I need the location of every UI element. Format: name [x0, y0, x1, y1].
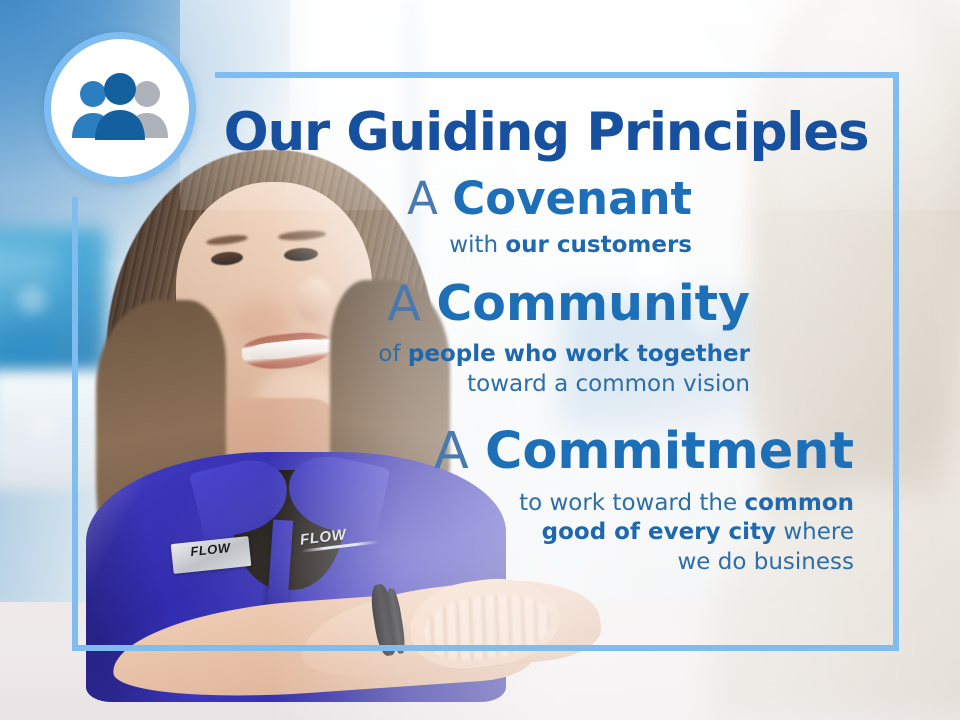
subtext-segment: toward a common vision — [467, 371, 750, 397]
subtext-segment: to work toward the — [519, 490, 744, 516]
principle-article: A — [407, 172, 438, 225]
subtext-segment: we do business — [678, 549, 855, 575]
people-group-icon — [66, 72, 174, 144]
subtext-segment-bold: common — [744, 490, 854, 516]
principle-subtext-line: we do business — [308, 548, 854, 577]
subtext-segment: with — [449, 232, 505, 258]
subtext-segment-bold: our customers — [505, 232, 692, 258]
principle-keyword: Commitment — [485, 422, 854, 481]
principle-subtext-line: of people who work together — [278, 340, 750, 369]
principle-subtext-line: with our customers — [218, 231, 692, 260]
principle-subtext: with our customers — [218, 231, 692, 260]
principle-commitment: A Commitment to work toward the common g… — [218, 425, 874, 577]
principle-subtext: of people who work together toward a com… — [218, 340, 750, 399]
principle-subtext-line: toward a common vision — [278, 370, 750, 399]
guiding-principles-poster: FLOW FLOW — [0, 0, 960, 720]
subtext-segment-bold: good of every city — [542, 519, 776, 545]
principle-subtext-line: good of every city where — [308, 518, 854, 547]
poster-content: Our Guiding Principles A Covenant with o… — [200, 78, 900, 638]
principle-keyword: Community — [436, 275, 750, 332]
principle-heading: A Community — [218, 278, 750, 330]
principle-article: A — [434, 422, 469, 481]
people-group-icon-badge — [44, 32, 196, 184]
principle-subtext-line: to work toward the common — [308, 489, 854, 518]
principle-heading: A Commitment — [218, 425, 854, 479]
principle-covenant: A Covenant with our customers — [218, 175, 874, 260]
page-title: Our Guiding Principles — [218, 106, 874, 159]
principle-article: A — [387, 275, 421, 332]
principle-heading: A Covenant — [218, 175, 692, 223]
principle-community: A Community of people who work together … — [218, 278, 874, 399]
principle-subtext: to work toward the common good of every … — [218, 489, 854, 577]
principle-keyword: Covenant — [452, 172, 692, 225]
subtext-segment: where — [776, 519, 854, 545]
subtext-segment: of — [378, 341, 407, 367]
subtext-segment-bold: people who work together — [408, 341, 750, 367]
